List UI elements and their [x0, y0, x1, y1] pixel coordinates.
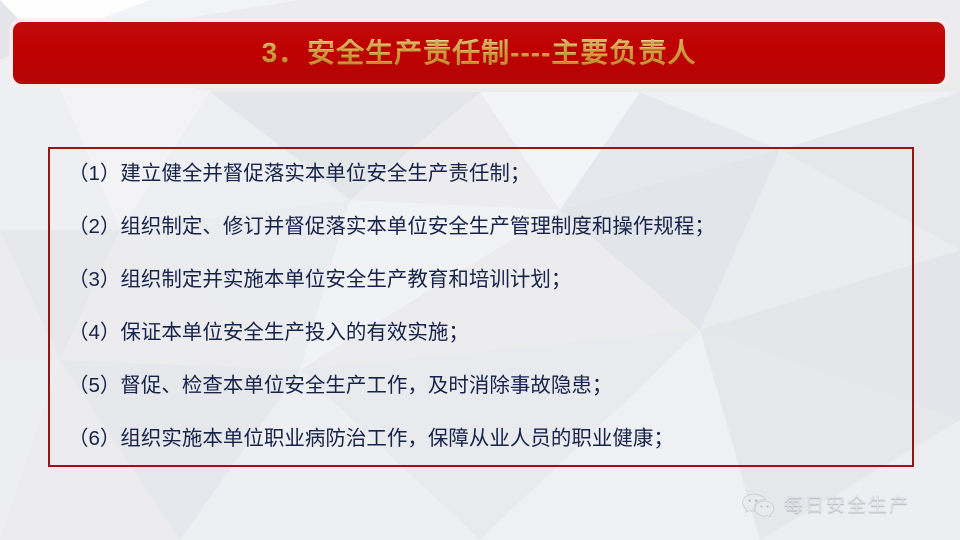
list-item: （3）组织制定并实施本单位安全生产教育和培训计划； — [68, 269, 892, 292]
list-item: （4）保证本单位安全生产投入的有效实施； — [68, 322, 892, 345]
list-item: （1）建立健全并督促落实本单位安全生产责任制； — [68, 163, 892, 186]
page-title: 3．安全生产责任制----主要负责人 — [262, 39, 697, 67]
slide-canvas: 3．安全生产责任制----主要负责人 （1）建立健全并督促落实本单位安全生产责任… — [0, 0, 960, 540]
list-item: （2）组织制定、修订并督促落实本单位安全生产管理制度和操作规程； — [68, 216, 892, 239]
list-item: （5）督促、检查本单位安全生产工作，及时消除事故隐患； — [68, 375, 892, 398]
list-item: （6）组织实施本单位职业病防治工作，保障从业人员的职业健康； — [68, 428, 892, 451]
wechat-watermark: 每日安全生产 — [741, 490, 910, 520]
wechat-icon — [741, 493, 775, 517]
slide-title-banner: 3．安全生产责任制----主要负责人 — [13, 22, 945, 84]
watermark-label: 每日安全生产 — [784, 496, 910, 515]
content-box: （1）建立健全并督促落实本单位安全生产责任制； （2）组织制定、修订并督促落实本… — [48, 147, 914, 467]
